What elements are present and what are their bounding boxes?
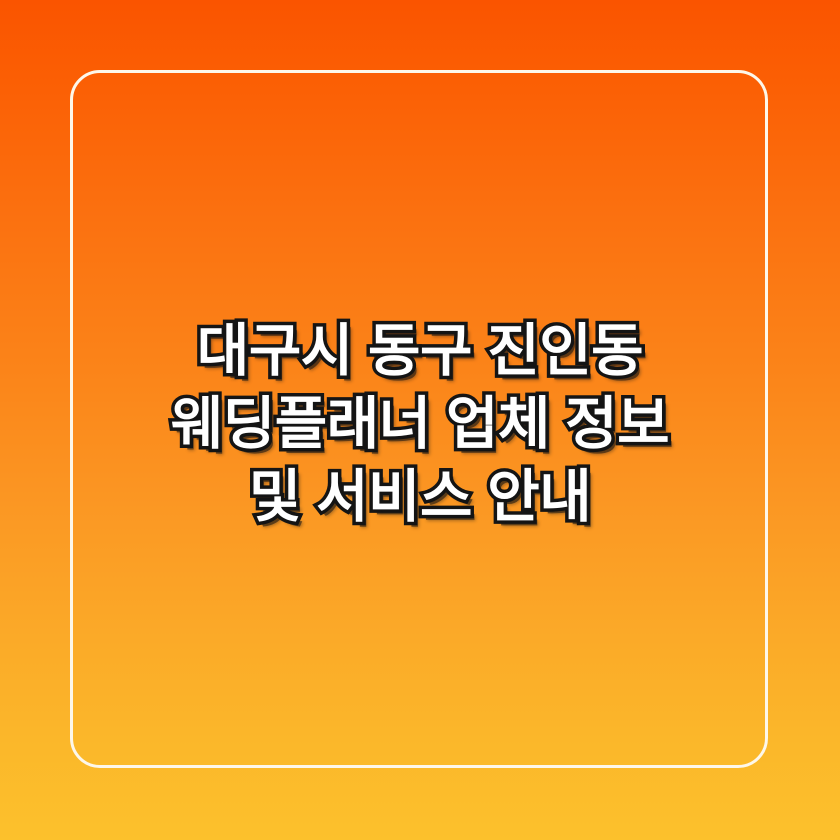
- page-title: 대구시 동구 진인동 웨딩플래너 업체 정보 및 서비스 안내: [90, 315, 750, 534]
- title-line-3: 및 서비스 안내: [90, 461, 750, 534]
- poster-canvas: 대구시 동구 진인동 웨딩플래너 업체 정보 및 서비스 안내: [0, 0, 840, 840]
- headline-container: 대구시 동구 진인동 웨딩플래너 업체 정보 및 서비스 안내: [0, 0, 840, 840]
- title-line-2: 웨딩플래너 업체 정보: [90, 388, 750, 461]
- title-line-1: 대구시 동구 진인동: [90, 315, 750, 388]
